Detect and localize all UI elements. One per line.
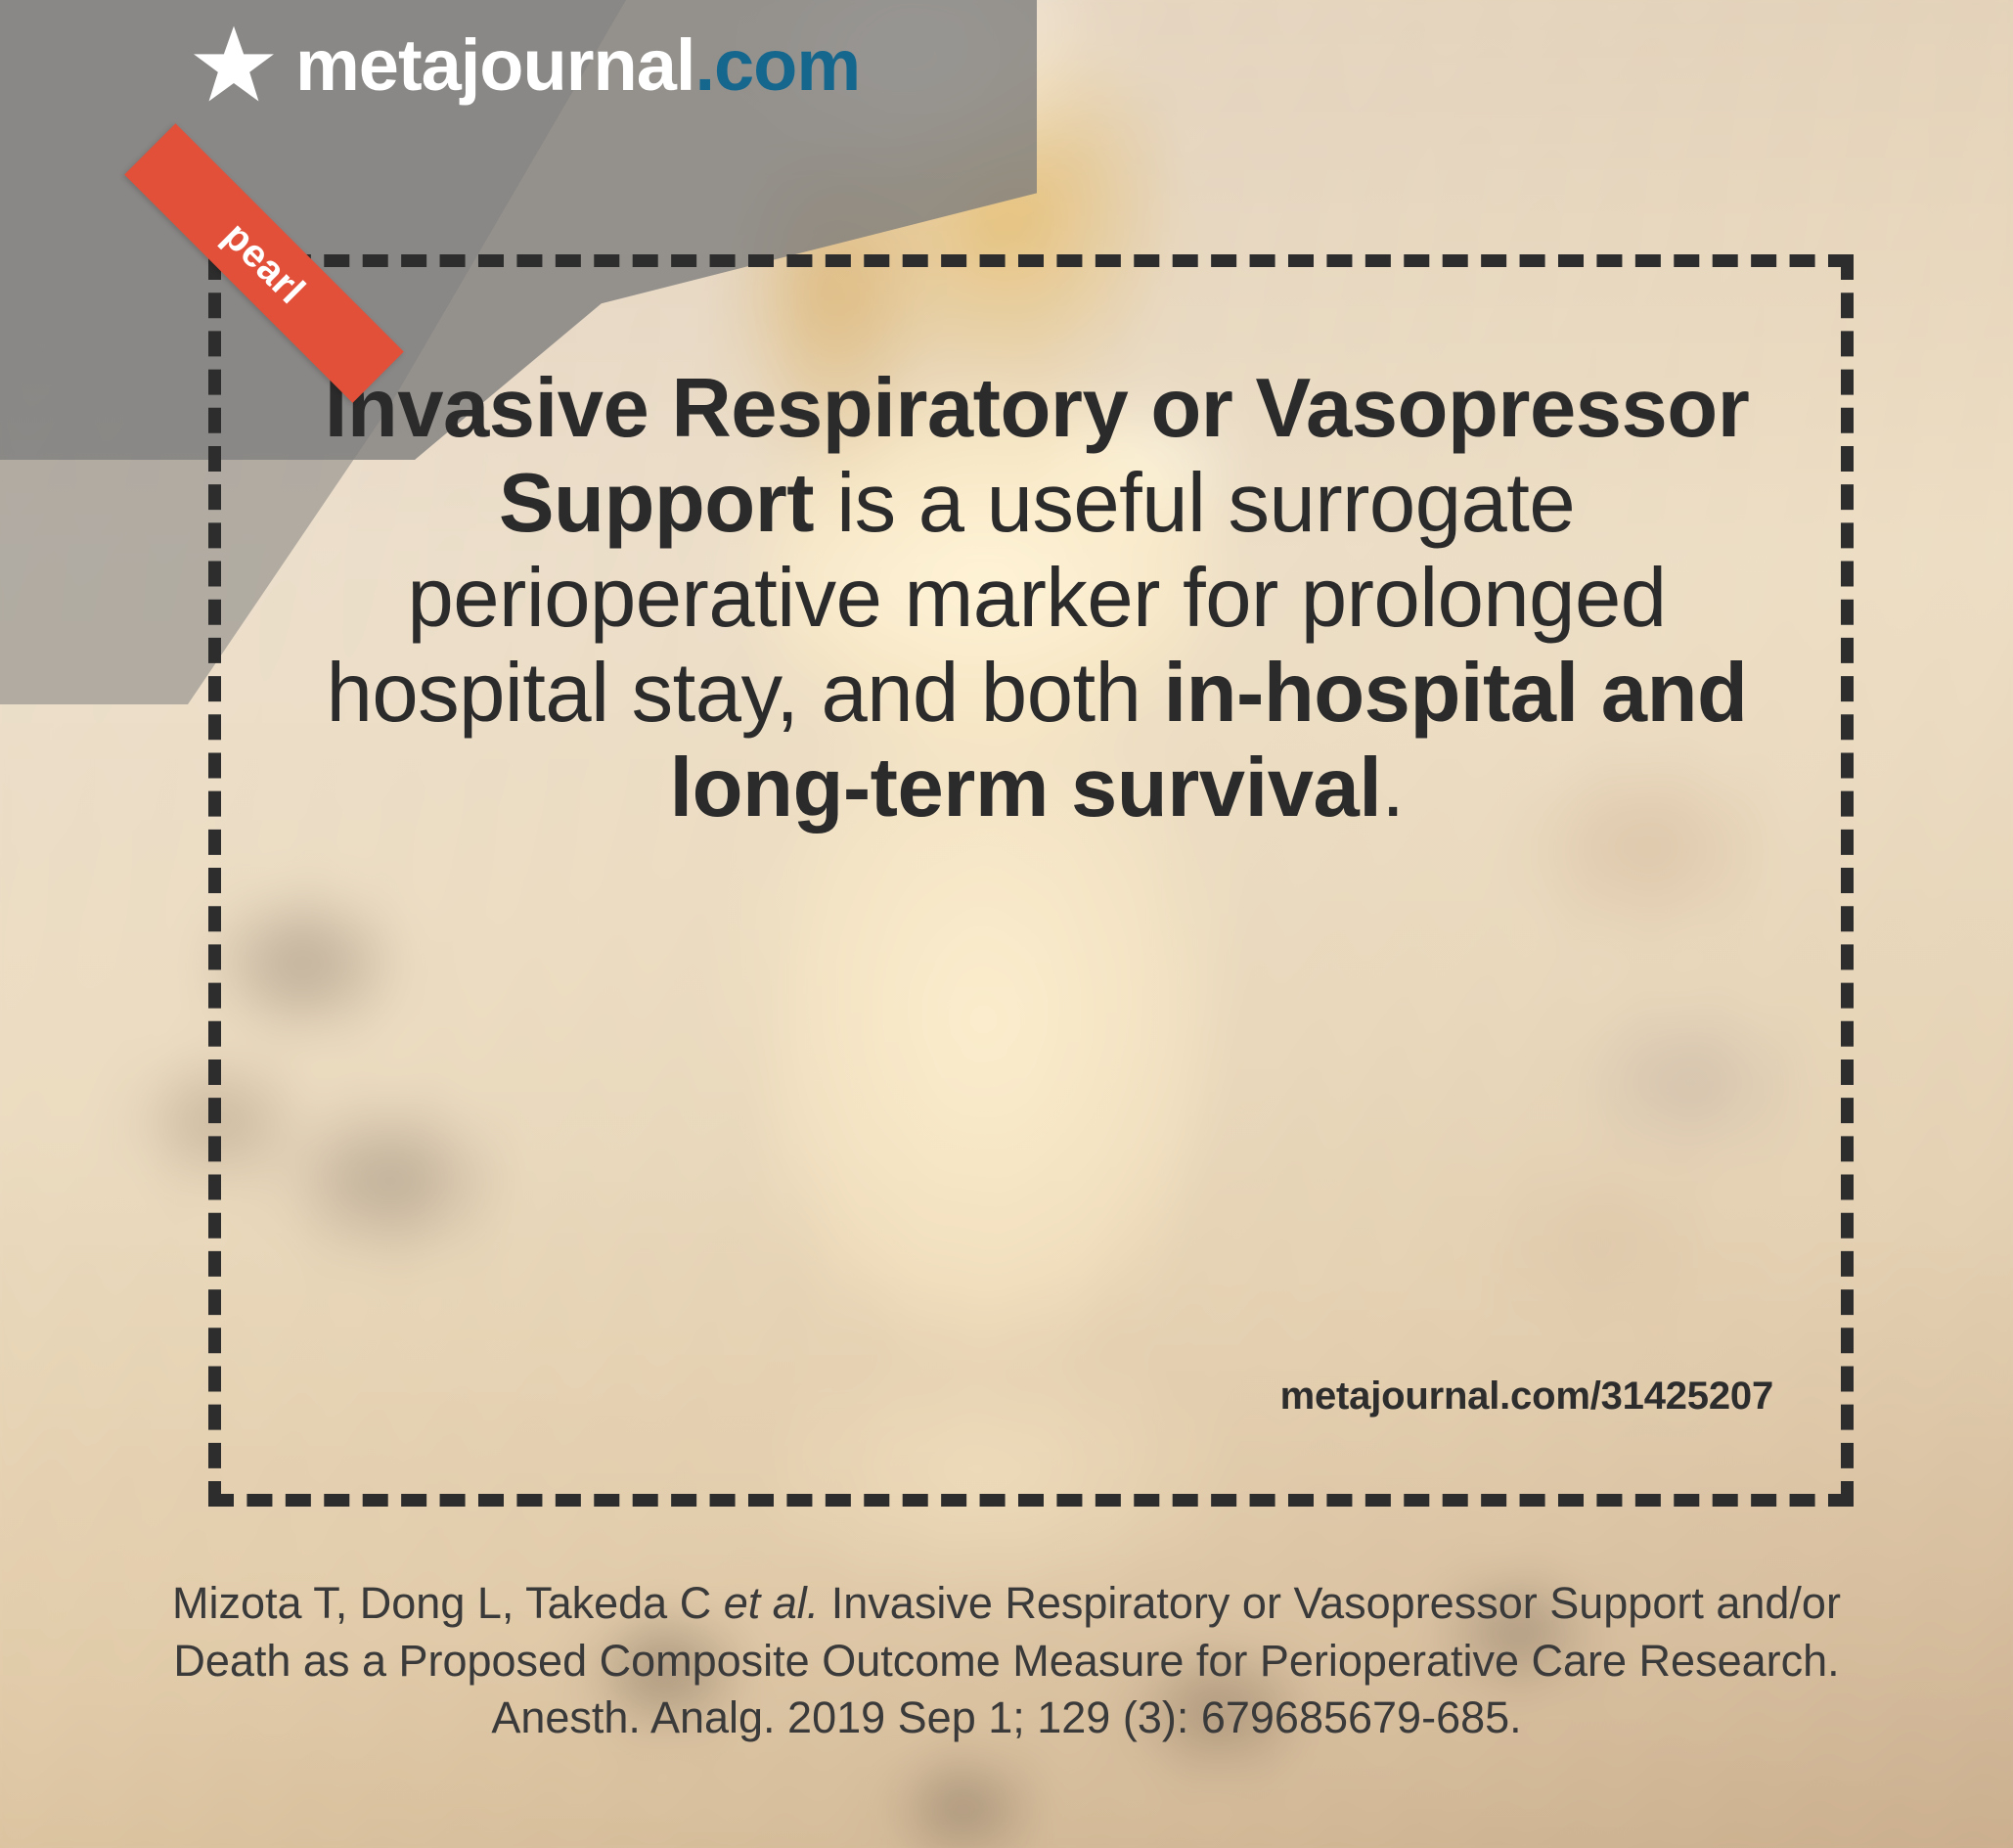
article-citation: Mizota T, Dong L, Takeda C et al. Invasi… (137, 1575, 1876, 1747)
brand-name: metajournal (295, 24, 694, 106)
pearl-card: metajournal.com pearl Invasive Respirato… (0, 0, 2013, 1848)
pearl-quote: Invasive Respiratory or Vasopressor Supp… (293, 362, 1780, 835)
brand-tld: .com (694, 24, 860, 106)
brand-wordmark: metajournal.com (295, 29, 860, 102)
quote-period: . (1381, 742, 1404, 834)
permalink-url[interactable]: metajournal.com/31425207 (1280, 1375, 1773, 1419)
brand-logo[interactable]: metajournal.com (192, 23, 860, 108)
star-icon (192, 23, 276, 108)
citation-authors: Mizota T, Dong L, Takeda C (172, 1578, 724, 1628)
citation-et-al: et al. (724, 1578, 820, 1628)
